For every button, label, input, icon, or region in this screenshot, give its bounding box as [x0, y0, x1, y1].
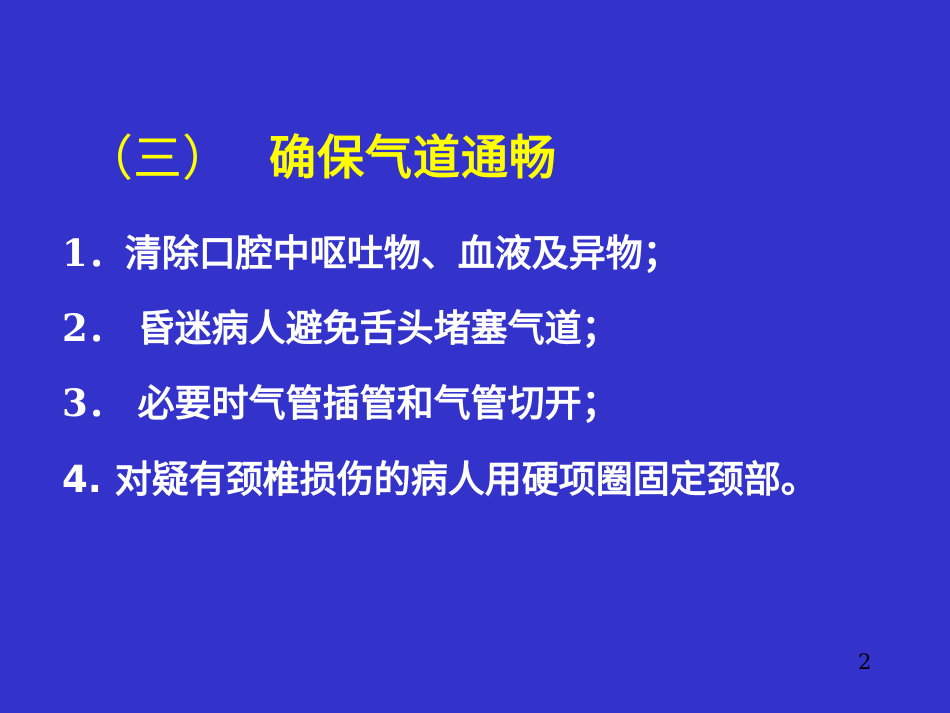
list-marker-4: 4.: [62, 458, 102, 501]
list-marker-3: 3．: [62, 381, 125, 425]
presentation-slide: （三）确保气道通畅 1．清除口腔中呕吐物、血液及异物； 2． 昏迷病人避免舌头堵…: [0, 0, 950, 713]
list-marker-2: 2．: [62, 306, 125, 350]
list-text-1: 清除口腔中呕吐物、血液及异物；: [125, 232, 680, 275]
slide-title-main: 确保气道通畅: [269, 135, 557, 182]
page-number: 2: [858, 652, 871, 673]
slide-body: 1．清除口腔中呕吐物、血液及异物； 2． 昏迷病人避免舌头堵塞气道； 3． 必要…: [62, 228, 910, 505]
list-text-3: 必要时气管插管和气管切开；: [125, 382, 619, 425]
body-list-item-1: 1．清除口腔中呕吐物、血液及异物；: [62, 228, 910, 279]
slide-title-prefix: （三）: [84, 134, 231, 183]
list-text-4: 对疑有颈椎损伤的病人用硬项圈固定颈部。: [102, 458, 818, 501]
body-list-item-4: 4. 对疑有颈椎损伤的病人用硬项圈固定颈部。: [62, 455, 907, 505]
body-list-item-3: 3． 必要时气管插管和气管切开；: [62, 378, 910, 429]
slide-title: （三）确保气道通畅: [84, 134, 904, 210]
body-list-item-2: 2． 昏迷病人避免舌头堵塞气道；: [62, 303, 910, 354]
list-text-2: 昏迷病人避免舌头堵塞气道；: [125, 307, 619, 350]
list-marker-1: 1．: [62, 231, 125, 275]
